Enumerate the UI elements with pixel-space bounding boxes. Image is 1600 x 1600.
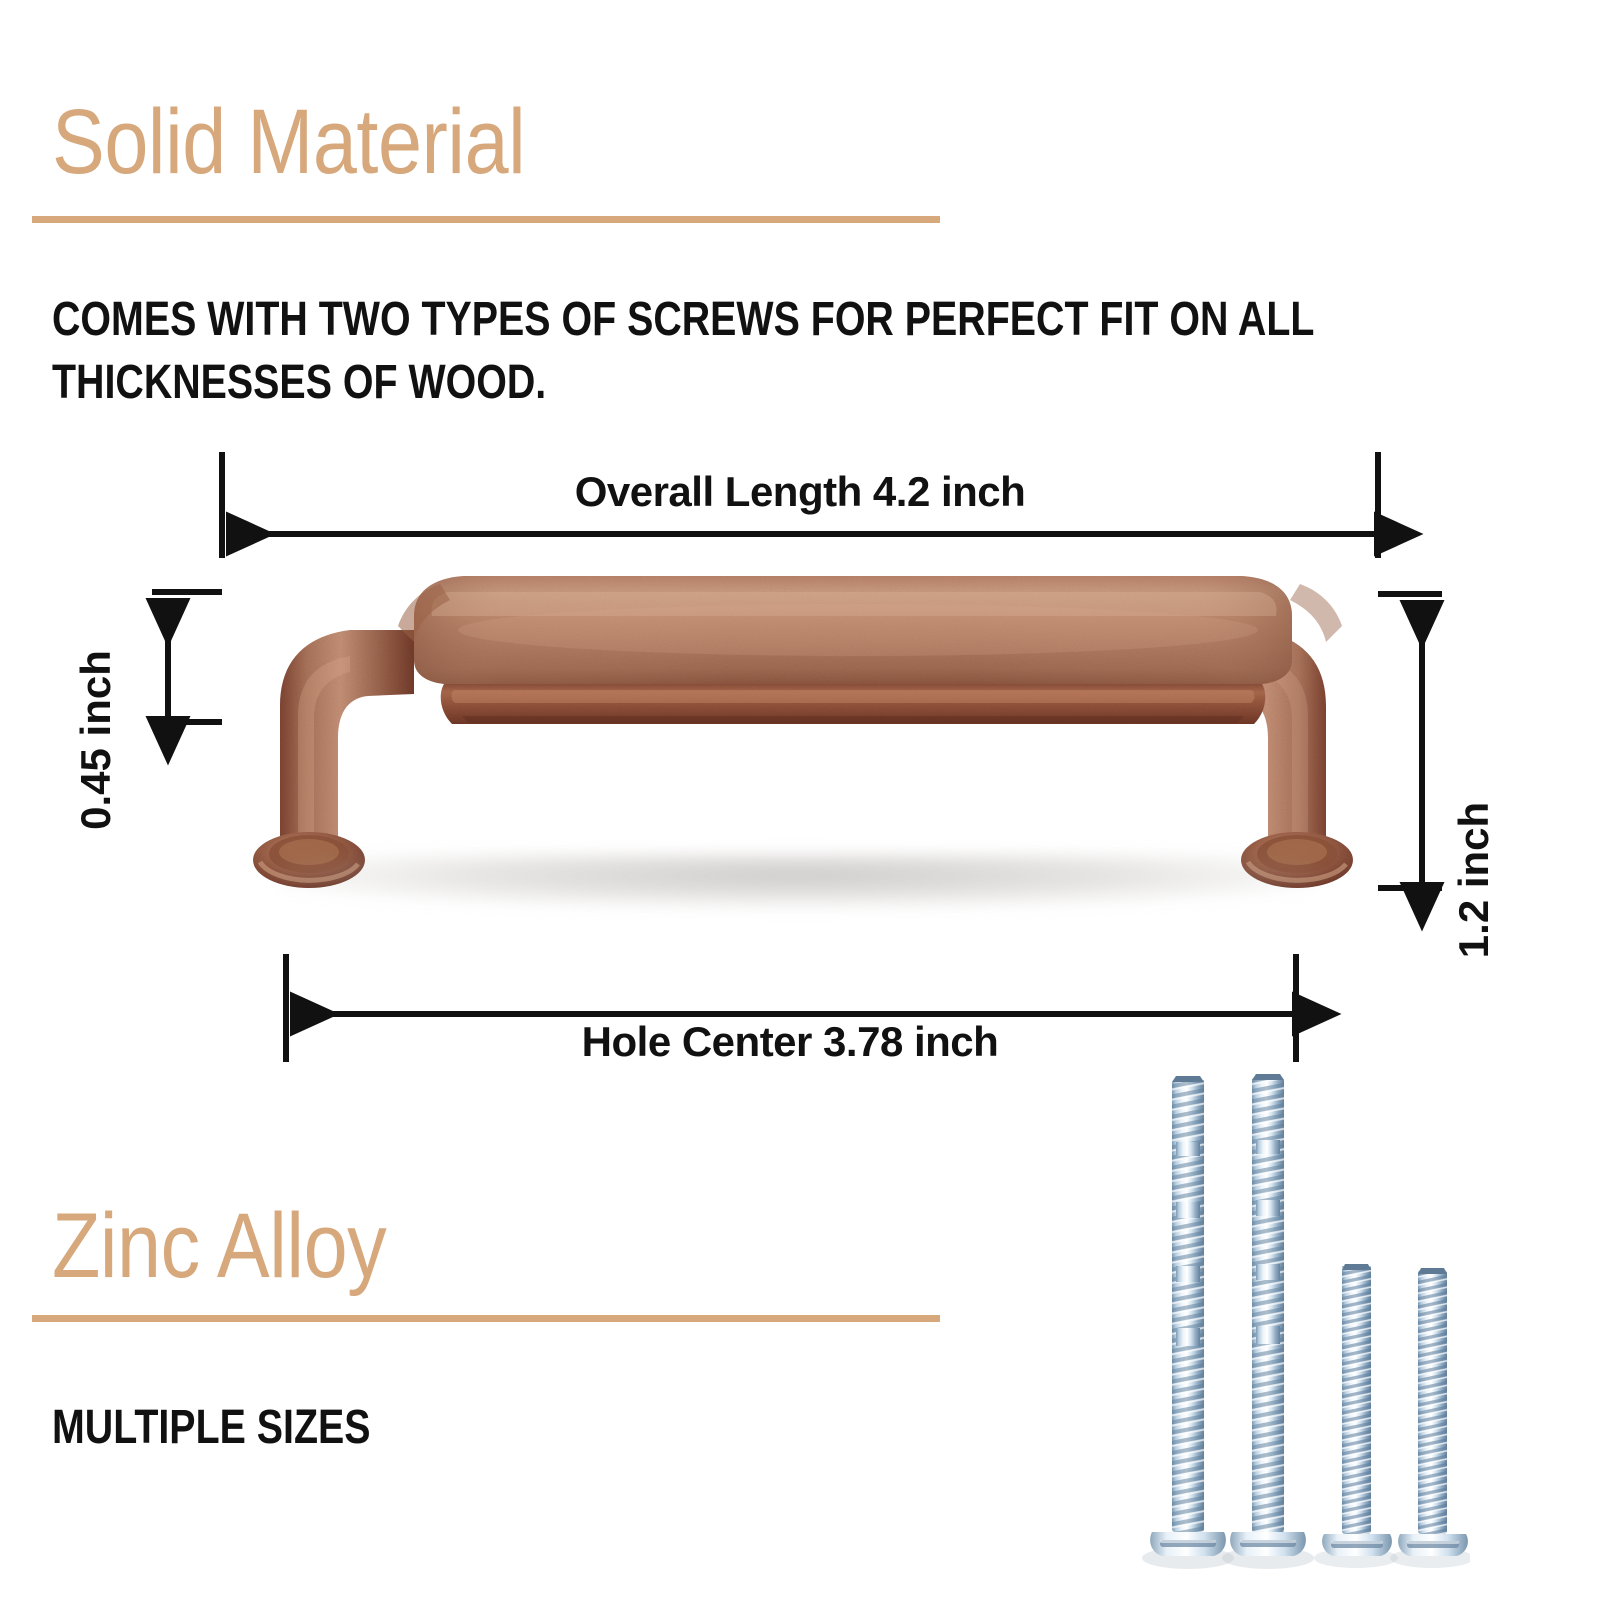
handle-bar-lip: [441, 684, 1266, 724]
heading-divider-top: [32, 216, 940, 223]
handle-top-bar: [414, 576, 1292, 684]
mounting-screws-image: [1140, 1070, 1470, 1570]
screws-illustration: [1140, 1070, 1470, 1570]
cabinet-pull-handle-image: [218, 566, 1388, 906]
overall-length-label: Overall Length 4.2 inch: [575, 468, 1026, 515]
screws-description-text: COMES WITH TWO TYPES OF SCREWS FOR PERFE…: [52, 288, 1495, 415]
product-infographic: Solid Material COMES WITH TWO TYPES OF S…: [0, 0, 1600, 1600]
heading-divider-bottom: [32, 1315, 940, 1322]
projection-label: 0.45 inch: [72, 650, 119, 830]
short-machine-screw-1: [1314, 1264, 1398, 1568]
long-breakaway-screw-2: [1222, 1074, 1314, 1569]
height-label: 1.2 inch: [1450, 802, 1497, 958]
hole-center-label: Hole Center 3.78 inch: [582, 1018, 999, 1065]
secondary-heading: Zinc Alloy: [52, 1200, 386, 1292]
hole-center-dimension: Hole Center 3.78 inch: [286, 954, 1296, 1065]
height-dimension: 1.2 inch: [1378, 594, 1497, 958]
overall-length-dimension: Overall Length 4.2 inch: [222, 452, 1378, 558]
projection-dimension: 0.45 inch: [72, 592, 222, 830]
handle-drop-shadow: [278, 854, 1318, 908]
short-machine-screw-2: [1390, 1268, 1470, 1568]
handle-left-leg: [280, 630, 414, 848]
sizes-description-text: MULTIPLE SIZES: [52, 1396, 790, 1459]
long-breakaway-screw-1: [1142, 1076, 1234, 1569]
primary-heading: Solid Material: [52, 96, 525, 188]
